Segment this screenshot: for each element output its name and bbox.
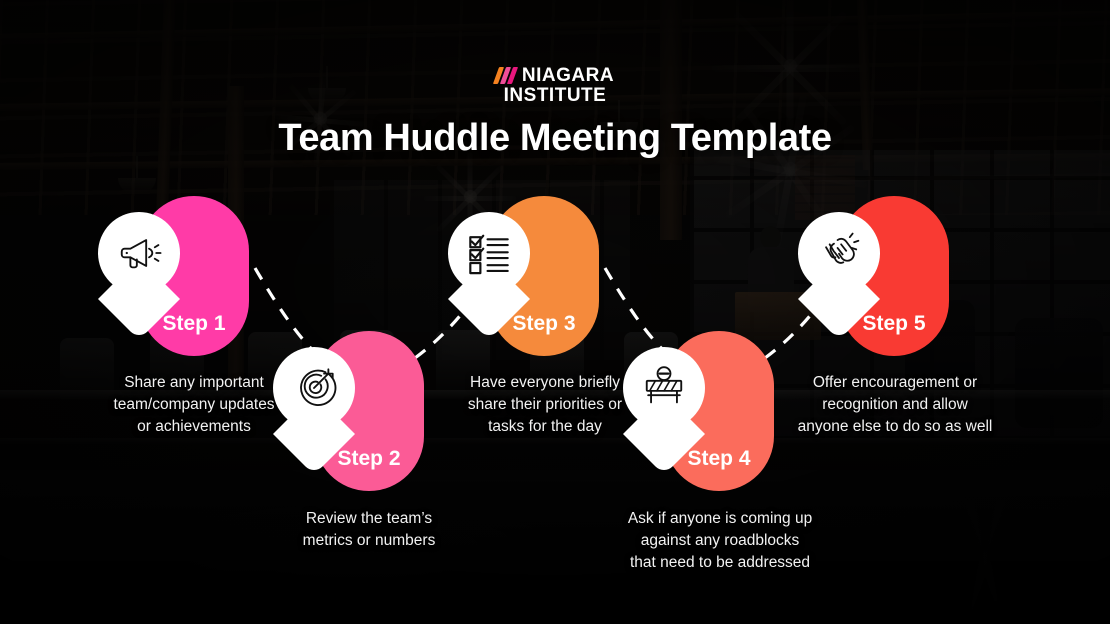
roadblock-barrier-icon — [641, 365, 687, 411]
step-1-caption: Share any important team/company updates… — [84, 372, 304, 438]
target-dartboard-icon — [291, 365, 337, 411]
logo-name-line1: NIAGARA — [522, 66, 614, 85]
logo-slashes-icon — [496, 67, 515, 84]
step-4-marker — [623, 347, 705, 453]
step-2-caption: Review the team’s metrics or numbers — [264, 508, 474, 552]
step-3-marker — [448, 212, 530, 318]
page-title: Team Huddle Meeting Template — [0, 117, 1110, 160]
logo-name-line2: INSTITUTE — [504, 86, 607, 106]
step-3-label: Step 3 — [489, 312, 599, 336]
step-2-label: Step 2 — [314, 447, 424, 471]
step-1-label: Step 1 — [139, 312, 249, 336]
step-1-marker — [98, 212, 180, 318]
niagara-institute-logo: NIAGARA INSTITUTE — [0, 66, 1110, 106]
step-4-label: Step 4 — [664, 447, 774, 471]
step-5-marker — [798, 212, 880, 318]
step-2-marker — [273, 347, 355, 453]
step-5-label: Step 5 — [839, 312, 949, 336]
step-5-caption: Offer encouragement or recognition and a… — [778, 372, 1012, 438]
step-4-caption: Ask if anyone is coming up against any r… — [604, 508, 836, 574]
clapping-hands-icon — [816, 230, 862, 276]
checklist-icon — [466, 230, 512, 276]
megaphone-icon — [116, 230, 162, 276]
